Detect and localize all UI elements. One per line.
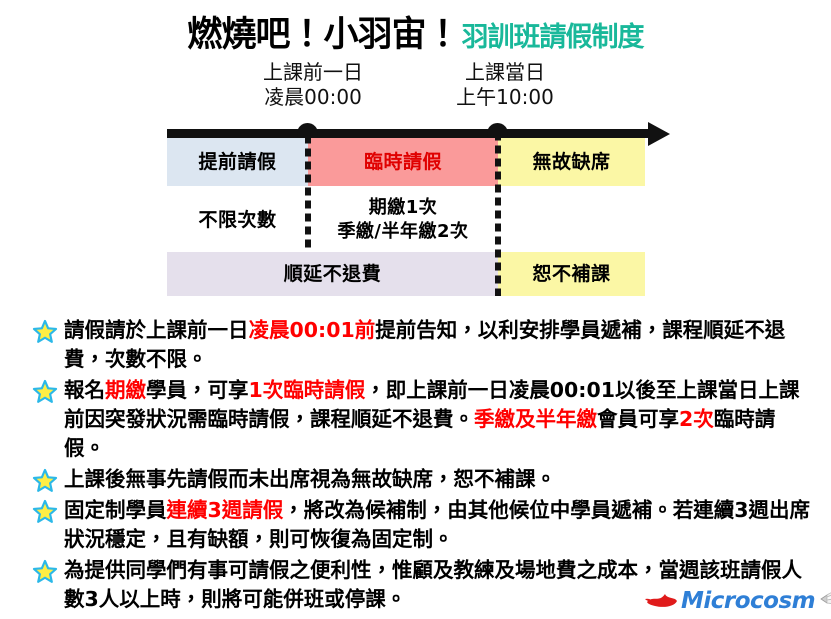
policy-note-highlight: 期繳 [105,378,146,402]
cell-temporary-leave-label: 臨時請假 [364,151,442,174]
policy-note-text: 固定制學員連續3週請假，將改為候補制，由其他候位中學員遞補。若連續3週出席狀況穩… [64,498,810,551]
cell-unexcused-absence: 無故缺席 [498,138,645,186]
timeline-caption-class-day-line2: 上午10:00 [420,85,590,110]
timeline-caption-day-before-line1: 上課前一日 [228,60,398,85]
divider-dashed-left [305,138,311,250]
star-icon [32,559,58,585]
flame-icon [645,589,679,613]
cell-temporary-leave: 臨時請假 [308,138,498,186]
policy-note-item: 報名期繳學員，可享1次臨時請假，即上課前一日凌晨00:01以後至上課當日上課前因… [24,376,814,463]
policy-note-highlight: 2次 [679,407,714,431]
policy-note-item: 固定制學員連續3週請假，將改為候補制，由其他候位中學員遞補。若連續3週出席狀況穩… [24,496,814,554]
policy-note-segment: 學員，可享 [146,378,249,402]
cell-postpone-no-refund-label: 順延不退費 [284,263,382,286]
divider-dashed-right [495,138,501,296]
timeline-caption-day-before: 上課前一日 凌晨00:00 [228,60,398,110]
cell-advance-leave: 提前請假 [167,138,308,186]
timeline-caption-class-day-line1: 上課當日 [420,60,590,85]
star-icon [32,379,58,405]
shuttlecock-icon [818,588,831,614]
policy-note-segment: 報名 [64,378,105,402]
timeline-caption-class-day: 上課當日 上午10:00 [420,60,590,110]
policy-note-segment: 上課後無事先請假而未出席視為無故缺席，恕不補課。 [64,467,556,491]
policy-notes-list: 請假請於上課前一日凌晨00:01前提前告知，以利安排學員遞補，課程順延不退費，次… [24,316,814,616]
cell-allowed-counts-line1: 期繳1次 [337,196,468,220]
star-icon [32,468,58,494]
timeline-arrow-head-icon [648,122,670,146]
policy-note-highlight: 季繳及半年繳 [474,407,597,431]
leave-policy-timeline-diagram: 提前請假 臨時請假 無故缺席 不限次數 期繳1次 季繳/半年繳2次 順延不退費 … [0,118,831,308]
cell-no-makeup-class: 恕不補課 [498,252,645,296]
policy-note-item: 請假請於上課前一日凌晨00:01前提前告知，以利安排學員遞補，課程順延不退費，次… [24,316,814,374]
policy-note-item: 上課後無事先請假而未出席視為無故缺席，恕不補課。 [24,465,814,494]
cell-allowed-counts: 期繳1次 季繳/半年繳2次 [308,190,498,250]
cell-unexcused-absence-label: 無故缺席 [532,151,610,174]
cell-postpone-no-refund: 順延不退費 [167,252,498,296]
policy-note-highlight: 連續3週請假 [167,498,284,522]
brand-logo-text: Microcosm [681,588,815,614]
timeline-caption-day-before-line2: 凌晨00:00 [228,85,398,110]
cell-advance-leave-label: 提前請假 [198,151,276,174]
policy-note-highlight: 凌晨00:01前 [249,318,376,342]
page-title: 燃燒吧！小羽宙！羽訓班請假制度 [0,6,831,57]
star-icon [32,319,58,345]
policy-note-segment: 會員可享 [597,407,679,431]
policy-note-text: 上課後無事先請假而未出席視為無故缺席，恕不補課。 [64,467,556,491]
brand-logo: Microcosm [645,586,825,616]
page-title-sub: 羽訓班請假制度 [462,22,644,53]
cell-allowed-counts-line2: 季繳/半年繳2次 [337,220,468,244]
timeline-axis-line [167,129,652,138]
page-title-main: 燃燒吧！小羽宙！ [187,15,459,55]
policy-note-segment: 固定制學員 [64,498,167,522]
cell-unlimited-times: 不限次數 [167,194,308,246]
policy-note-text: 報名期繳學員，可享1次臨時請假，即上課前一日凌晨00:01以後至上課當日上課前因… [64,378,800,460]
policy-note-highlight: 1次臨時請假 [249,378,366,402]
policy-note-segment: 請假請於上課前一日 [64,318,249,342]
star-icon [32,499,58,525]
policy-note-text: 請假請於上課前一日凌晨00:01前提前告知，以利安排學員遞補，課程順延不退費，次… [64,318,785,371]
cell-no-makeup-class-label: 恕不補課 [532,263,610,286]
cell-unlimited-times-label: 不限次數 [198,209,276,232]
